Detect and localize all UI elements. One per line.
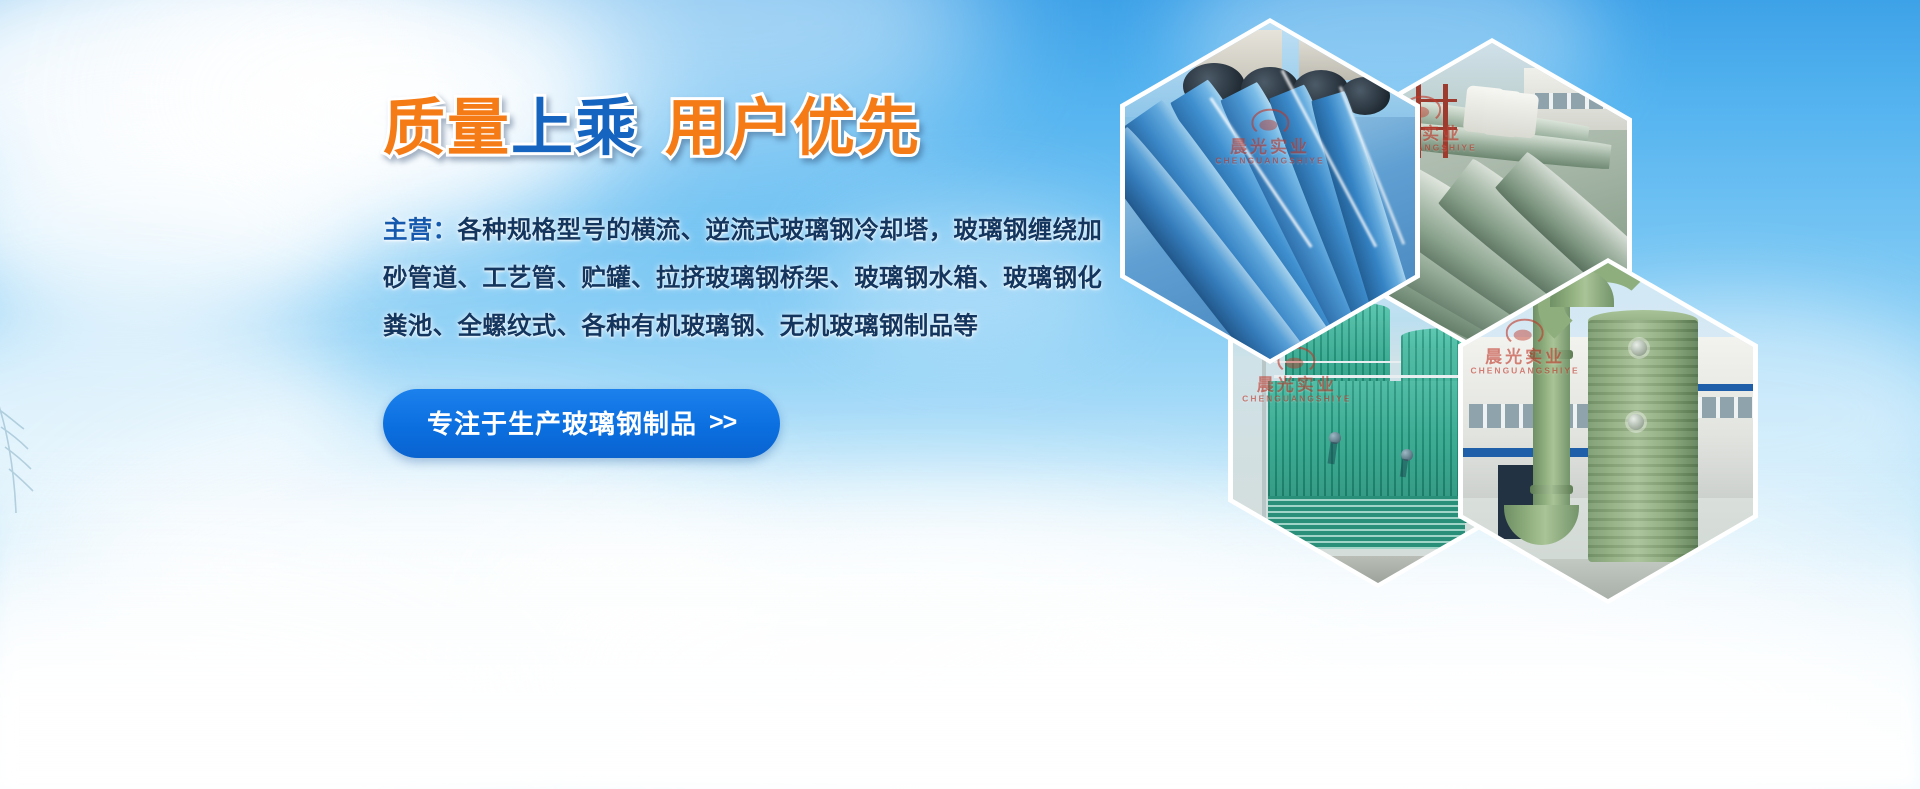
chevron-right-double-icon: >> [709,408,736,437]
business-scope-label: 主营： [383,217,457,244]
business-scope-line-3: 粪池、全螺纹式、各种有机玻璃钢、无机玻璃钢制品等 [383,303,1113,351]
headline-part-blue: 上乘 [511,94,639,163]
product-photo-gallery: 晨光实业 CHENGUANGSHIYE [1120,10,1800,530]
cta-label: 专注于生产玻璃钢制品 [427,404,697,441]
hero-banner: 质量上乘用户优先 主营：各种规格型号的横流、逆流式玻璃钢冷却塔，玻璃钢缠绕加 砂… [0,0,1920,789]
business-scope-line-1-text: 各种规格型号的横流、逆流式玻璃钢冷却塔，玻璃钢缠绕加 [457,217,1102,244]
business-scope-line-1: 主营：各种规格型号的横流、逆流式玻璃钢冷却塔，玻璃钢缠绕加 [383,207,1113,255]
business-scope-line-2: 砂管道、工艺管、贮罐、拉挤玻璃钢桥架、玻璃钢水箱、玻璃钢化 [383,255,1113,303]
cta-button[interactable]: 专注于生产玻璃钢制品 >> [383,389,780,458]
headline-part-orange-1: 质量 [383,94,511,163]
business-scope-text: 主营：各种规格型号的横流、逆流式玻璃钢冷却塔，玻璃钢缠绕加 砂管道、工艺管、贮罐… [383,207,1113,351]
palm-frond-decoration [0,395,46,515]
page-title: 质量上乘用户优先 [383,96,1143,161]
headline-part-orange-2: 用户优先 [665,94,921,163]
banner-copy: 质量上乘用户优先 主营：各种规格型号的横流、逆流式玻璃钢冷却塔，玻璃钢缠绕加 砂… [383,96,1143,458]
